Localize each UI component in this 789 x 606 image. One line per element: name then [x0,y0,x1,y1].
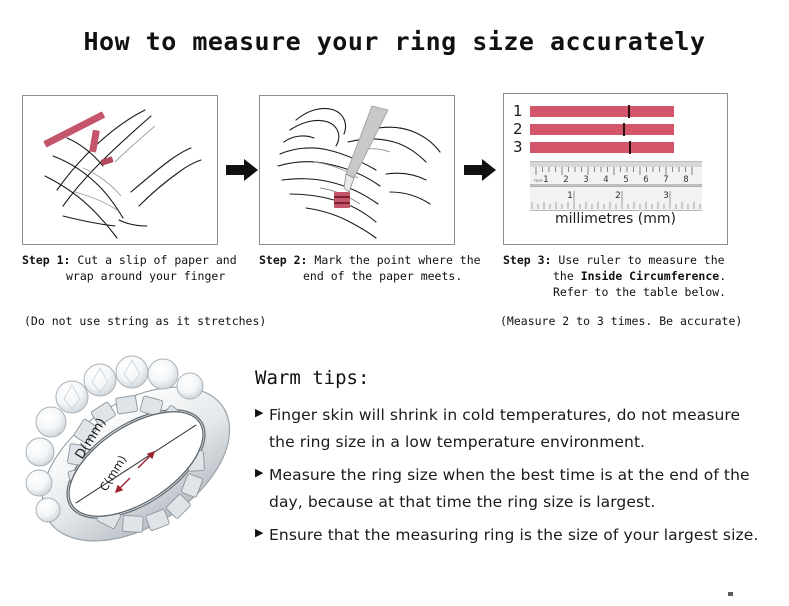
hand-with-paper-strip-icon [23,96,216,243]
step-1-illustration-panel [22,95,218,245]
ring-size-guide-page: How to measure your ring size accurately [0,0,789,606]
step-3-note: (Measure 2 to 3 times. Be accurate) [500,314,742,328]
tip-text-3: Ensure that the measuring ring is the si… [269,522,758,549]
svg-text:5: 5 [623,175,628,185]
paper-strip-2 [530,124,674,135]
step-1-caption: Step 1: Cut a slip of paper and wrap aro… [22,252,252,284]
svg-text:1: 1 [543,175,548,185]
svg-text:7: 7 [663,175,668,185]
warm-tips-heading: Warm tips: [255,367,369,389]
step-1-label: Step 1: [22,253,70,267]
step-3-caption: Step 3: Use ruler to measure the the Ins… [503,252,763,300]
ruler-graphic: 123 456 78 mm 123 [530,161,702,211]
svg-text:3: 3 [583,175,588,185]
svg-text:6: 6 [643,175,648,185]
eternity-ring-photo-icon: D(mm) C(mm) [20,352,252,572]
strip-number-3: 3 [513,140,527,155]
step-2-label: Step 2: [259,253,307,267]
tip-item-3: ▶ Ensure that the measuring ring is the … [255,522,765,549]
strip-mark-2 [623,123,625,136]
paper-strip-1 [530,106,674,117]
inside-circumference-emphasis: Inside Circumference [581,269,719,283]
step-2-caption: Step 2: Mark the point where the end of … [259,252,489,284]
ruler-scales-icon: 123 456 78 mm 123 [530,162,702,210]
right-arrow-icon-2 [462,157,498,183]
triangle-bullet-icon-3: ▶ [255,522,269,538]
step-2-line1: Mark the point where the [307,253,480,267]
strip-number-2: 2 [513,122,527,137]
warm-tips-list: ▶ Finger skin will shrink in cold temper… [255,402,765,555]
step-1-line2: wrap around your finger [22,268,252,284]
measured-strip-3: 3 [513,140,674,155]
svg-text:1: 1 [567,191,573,201]
tip-text-1: Finger skin will shrink in cold temperat… [269,402,765,456]
strip-mark-1 [628,105,630,118]
step-1-line1: Cut a slip of paper and [70,253,236,267]
step-2-line2: end of the paper meets. [259,268,489,284]
step-3-line2: the Inside Circumference. [503,268,763,284]
step-3-line2-suffix: . [719,269,726,283]
page-artifact-speck [728,592,733,596]
strip-number-1: 1 [513,104,527,119]
step-2-illustration-panel [259,95,455,245]
step-3-line2-prefix: the [553,269,581,283]
svg-text:3: 3 [663,191,669,201]
svg-text:4: 4 [603,175,608,185]
triangle-bullet-icon-2: ▶ [255,462,269,478]
svg-text:2: 2 [563,175,568,185]
ring-diagram: D(mm) C(mm) [20,352,252,572]
page-title: How to measure your ring size accurately [0,27,789,56]
step-3-label: Step 3: [503,253,551,267]
strip-mark-3 [629,141,631,154]
svg-text:mm: mm [534,179,543,184]
measured-strip-1: 1 [513,104,674,119]
millimetres-caption: millimetres (mm) [503,211,728,227]
tip-text-2: Measure the ring size when the best time… [269,462,765,516]
hand-marking-with-pen-icon [260,96,453,243]
svg-text:2: 2 [615,191,621,201]
measured-strip-2: 2 [513,122,674,137]
svg-text:8: 8 [683,175,688,185]
step-3-line1: Use ruler to measure the [551,253,724,267]
tip-item-2: ▶ Measure the ring size when the best ti… [255,462,765,516]
paper-strip-3 [530,142,674,153]
step-1-note: (Do not use string as it stretches) [24,314,266,328]
tip-item-1: ▶ Finger skin will shrink in cold temper… [255,402,765,456]
right-arrow-icon-1 [224,157,260,183]
triangle-bullet-icon-1: ▶ [255,402,269,418]
step-3-line3: Refer to the table below. [503,284,763,300]
